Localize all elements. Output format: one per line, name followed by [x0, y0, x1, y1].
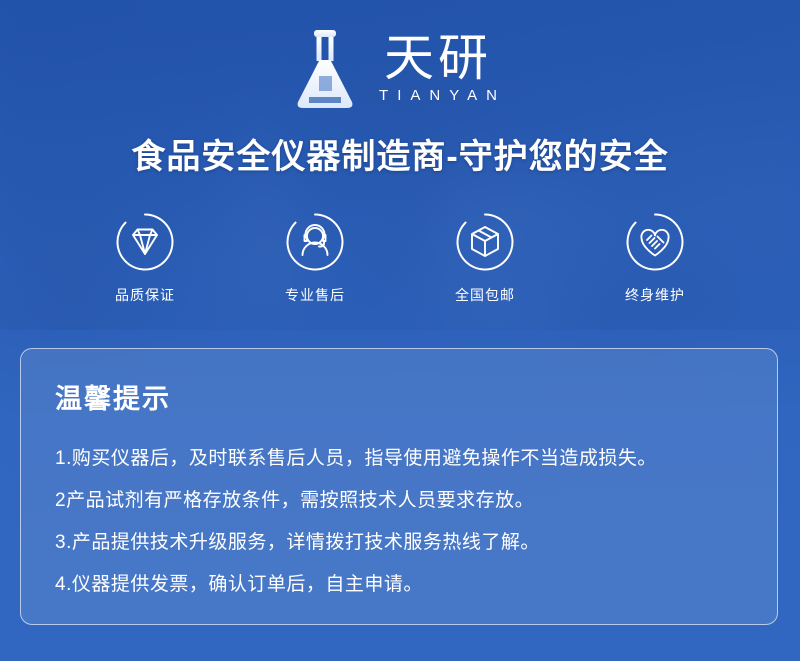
handshake-heart-icon	[625, 212, 685, 272]
feature-item-lifetime-maintenance: 终身维护	[600, 212, 710, 305]
brand-name-en: TIANYAN	[370, 87, 506, 104]
brand-logo: 天研 TIANYAN	[0, 26, 800, 112]
feature-label: 终身维护	[625, 285, 685, 305]
notice-card: 温馨提示 1.购买仪器后，及时联系售后人员，指导使用避免操作不当造成损失。 2产…	[20, 348, 778, 625]
feature-label: 专业售后	[285, 285, 345, 305]
promo-banner-page: 天研 TIANYAN 食品安全仪器制造商-守护您的安全	[0, 0, 800, 661]
package-box-icon	[455, 212, 515, 272]
list-item: 2产品试剂有严格存放条件，需按照技术人员要求存放。	[55, 480, 743, 522]
feature-label: 品质保证	[115, 285, 175, 305]
list-item: 1.购买仪器后，及时联系售后人员，指导使用避免操作不当造成损失。	[55, 438, 743, 480]
flask-icon	[294, 26, 356, 112]
feature-item-free-shipping: 全国包邮	[430, 212, 540, 305]
list-item: 3.产品提供技术升级服务，详情拨打技术服务热线了解。	[55, 522, 743, 564]
headset-support-icon	[285, 212, 345, 272]
feature-item-quality: 品质保证	[90, 212, 200, 305]
page-title: 食品安全仪器制造商-守护您的安全	[0, 129, 800, 178]
list-item: 4.仪器提供发票，确认订单后，自主申请。	[55, 564, 743, 606]
feature-list: 品质保证	[90, 212, 710, 305]
notice-list: 1.购买仪器后，及时联系售后人员，指导使用避免操作不当造成损失。 2产品试剂有严…	[55, 438, 743, 606]
brand-name-cn: 天研	[384, 32, 492, 85]
feature-item-after-sales: 专业售后	[260, 212, 370, 305]
diamond-icon	[115, 212, 175, 272]
notice-title: 温馨提示	[55, 377, 743, 416]
feature-label: 全国包邮	[455, 285, 515, 305]
